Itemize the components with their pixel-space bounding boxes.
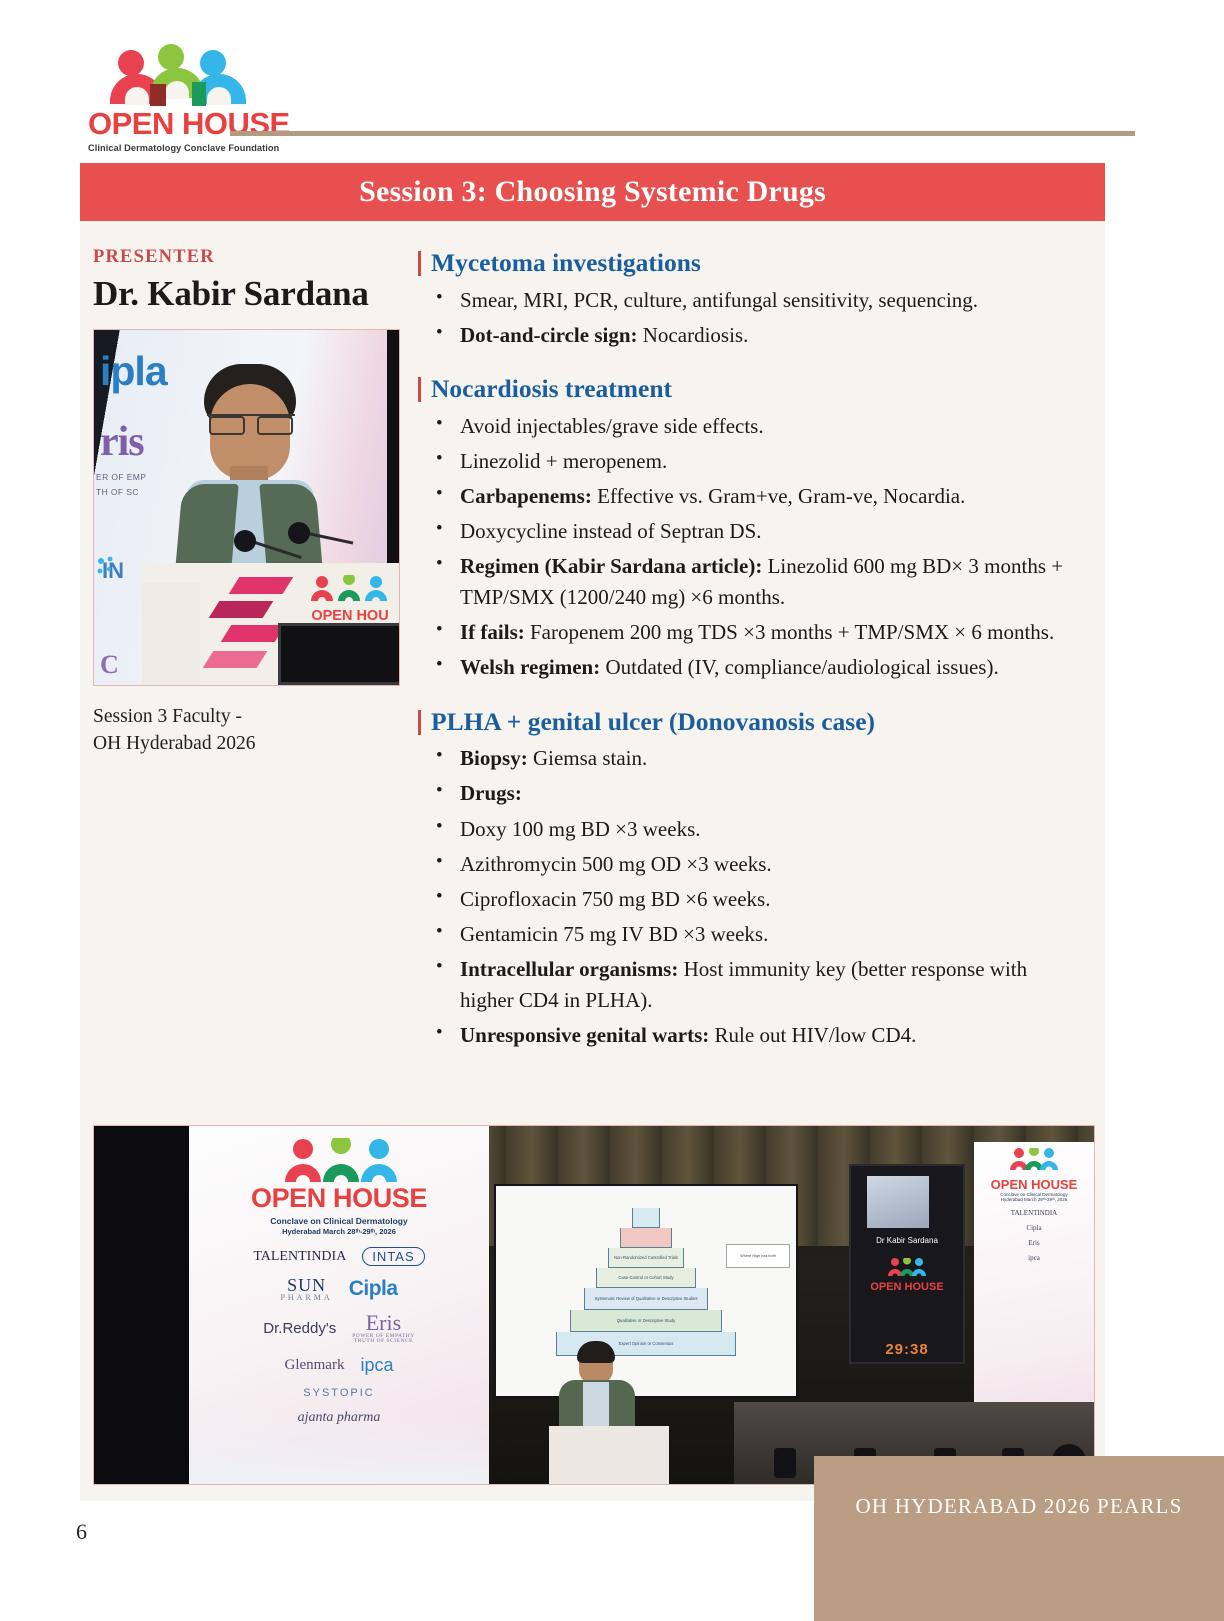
speaker-thumbnail [867,1176,929,1228]
bullet-lead: Intracellular organisms: [460,957,678,981]
bullet-text: Doxy 100 mg BD ×3 weeks. [460,817,701,841]
presenter-photo-caption: Session 3 Faculty - OH Hyderabad 2026 [93,704,410,758]
bullet-text: Linezolid + meropenem. [460,449,667,473]
bullet-lead: If fails: [460,620,525,644]
open-house-logo: OPEN HOUSE Clinical Dermatology Conclave… [88,44,328,153]
footer-label: OH HYDERABAD 2026 PEARLS [814,1494,1224,1519]
stage-led-screen: Dr Kabir Sardana OPEN HOUSE 29:38 [849,1164,965,1364]
bullet-lead: Dot-and-circle sign: [460,323,638,347]
standee-sponsor: Cipla [974,1224,1094,1232]
bullet-text: Smear, MRI, PCR, culture, antifungal sen… [460,288,978,312]
pyramid-row-label: Non-Randomized Controlled Trials [614,1255,678,1260]
sponsor-talentindia: TALENTINDIA [253,1249,346,1265]
list-item: Smear, MRI, PCR, culture, antifungal sen… [418,285,1068,316]
standee-sponsor: Eris [974,1239,1094,1247]
glasses-icon [207,414,295,432]
list-item: Welsh regimen: Outdated (IV, compliance/… [418,652,1068,683]
bullet-lead: Drugs: [460,781,522,805]
section-mycetoma-investigations: Mycetoma investigations Smear, MRI, PCR,… [418,247,1068,351]
countdown-timer: 29:38 [851,1341,963,1358]
sponsor-eris-tagline: POWER OF EMPATHYTRUTH OF SCIENCE [352,1334,415,1344]
header-rule [230,131,1135,136]
sponsor-row: Glenmark ipca [189,1355,489,1376]
section-heading: Nocardiosis treatment [418,373,1068,405]
photo-caption-line-2: OH Hyderabad 2026 [93,731,410,758]
list-item: Carbapenems: Effective vs. Gram+ve, Gram… [418,481,1068,512]
backdrop-partial-letter: C [100,650,119,680]
list-item: Regimen (Kabir Sardana article): Linezol… [418,551,1068,613]
two-column-layout: PRESENTER Dr. Kabir Sardana ipla ris ER … [80,221,1105,1055]
list-item: Intracellular organisms: Host immunity k… [418,954,1068,1016]
presenter-label: PRESENTER [93,247,410,268]
bullet-text: Gentamicin 75 mg IV BD ×3 weeks. [460,922,768,946]
bullet-text: Azithromycin 500 mg OD ×3 weeks. [460,852,772,876]
presenter-figure [152,362,342,582]
bullet-lead: Carbapenems: [460,484,592,508]
sponsor-glenmark: Glenmark [284,1358,344,1373]
podium-monitor [278,623,400,685]
photo-caption-line-1: Session 3 Faculty - [93,704,410,731]
bullet-text: Rule out HIV/low CD4. [709,1023,916,1047]
standee-sponsor: ipca [974,1254,1094,1262]
list-item: Unresponsive genital warts: Rule out HIV… [418,1020,1068,1051]
sponsor-intas: INTAS [362,1247,424,1266]
led-screen-logo: OPEN HOUSE [851,1258,963,1293]
section-bullet-list: Biopsy: Giemsa stain. Drugs: Doxy 100 mg… [418,743,1068,1051]
bullet-text: Faropenem 200 mg TDS ×3 months + TMP/SMX… [525,620,1054,644]
presenter-column: PRESENTER Dr. Kabir Sardana ipla ris ER … [80,221,410,758]
sponsor-sun-pharma-sub: PHARMA [280,1294,332,1302]
bullet-text: Effective vs. Gram+ve, Gram-ve, Nocardia… [592,484,966,508]
backdrop-eris-tagline: ER OF EMPTH OF SC [96,470,146,499]
presenter-name: Dr. Kabir Sardana [93,274,410,313]
bullet-lead: Unresponsive genital warts: [460,1023,709,1047]
footer-band: OH HYDERABAD 2026 PEARLS [814,1456,1224,1621]
list-item: Azithromycin 500 mg OD ×3 weeks. [418,849,1068,880]
bullet-text: Avoid injectables/grave side effects. [460,414,764,438]
list-item: Drugs: [418,778,1068,809]
pyramid-row-label: Case-Control or Cohort Study [618,1275,673,1280]
backdrop-intas-dots-icon [96,556,120,580]
section-heading: Mycetoma investigations [418,247,1068,279]
list-item: Dot-and-circle sign: Nocardiosis. [418,320,1068,351]
stage-presenter-figure [549,1344,669,1484]
standee-wordmark: OPEN HOUSE [974,1177,1094,1192]
bullet-text: Doxycycline instead of Septran DS. [460,519,762,543]
led-screen-wordmark: OPEN HOUSE [851,1281,963,1293]
session-banner: Session 3: Choosing Systemic Drugs [80,163,1105,221]
pyramid-row-label: Systematic Review of Qualitative or Desc… [595,1296,698,1301]
sponsor-cipla: Cipla [349,1277,398,1301]
content-panel: Session 3: Choosing Systemic Drugs PRESE… [80,163,1105,1501]
sponsor-row: Dr.Reddy's ErisPOWER OF EMPATHYTRUTH OF … [189,1313,489,1344]
sponsor-row: TALENTINDIA INTAS [189,1247,489,1266]
evidence-pyramid-diagram: Non-Randomized Controlled Trials Case-Co… [551,1208,741,1358]
stage-banner-sub2: Hyderabad March 28ᵗʰ-29ᵗʰ, 2026 [189,1227,489,1236]
banner-skyline-graphic [189,1412,489,1484]
pyramid-row-label: Qualitative or Descriptive Study [617,1318,675,1323]
sponsor-eris: ErisPOWER OF EMPATHYTRUTH OF SCIENCE [352,1313,415,1344]
standee-sub2: Hyderabad March 28ᵗʰ-29ᵗʰ, 2026 [974,1197,1094,1202]
podium: OPEN HOU Conclave on Clinical Dermatolog… [142,563,400,685]
stage-banner-sub1: Conclave on Clinical Dermatology [189,1216,489,1226]
stage-banner-wordmark: OPEN HOUSE [189,1183,489,1214]
slide-callout: Where High has both [726,1244,790,1268]
list-item: If fails: Faropenem 200 mg TDS ×3 months… [418,617,1068,648]
standee-sponsor: TALENTINDIA [974,1209,1094,1217]
section-nocardiosis-treatment: Nocardiosis treatment Avoid injectables/… [418,373,1068,684]
section-heading: PLHA + genital ulcer (Donovanosis case) [418,706,1068,738]
bullet-text: Nocardiosis. [638,323,749,347]
sponsor-systopic: SYSTOPIC [303,1387,374,1399]
list-item: Biopsy: Giemsa stain. [418,743,1068,774]
list-item: Ciprofloxacin 750 mg BD ×6 weeks. [418,884,1068,915]
session-title: Session 3: Choosing Systemic Drugs [359,175,826,209]
podium-logo-word: OPEN HOU [306,608,394,624]
notes-column: Mycetoma investigations Smear, MRI, PCR,… [410,221,1090,1055]
list-item: Linezolid + meropenem. [418,446,1068,477]
section-bullet-list: Avoid injectables/grave side effects. Li… [418,411,1068,684]
section-bullet-list: Smear, MRI, PCR, culture, antifungal sen… [418,285,1068,351]
bullet-lead: Biopsy: [460,746,528,770]
open-house-logo-figures [110,44,270,106]
bullet-lead: Welsh regimen: [460,655,600,679]
sponsor-ipca: ipca [360,1355,393,1376]
bullet-lead: Regimen (Kabir Sardana article): [460,554,762,578]
stage-photo: OPEN HOUSE Conclave on Clinical Dermatol… [93,1125,1095,1485]
stage-banner-logo-icon [273,1138,405,1182]
stage-light-icon [774,1448,796,1478]
list-item: Gentamicin 75 mg IV BD ×3 weeks. [418,919,1068,950]
list-item: Doxy 100 mg BD ×3 weeks. [418,814,1068,845]
logo-tagline: Clinical Dermatology Conclave Foundation [88,143,328,153]
sponsor-row: SUNPHARMA Cipla [189,1277,489,1302]
list-item: Avoid injectables/grave side effects. [418,411,1068,442]
sponsor-sun-pharma: SUNPHARMA [280,1277,332,1302]
speaker-name-overlay: Dr Kabir Sardana [851,1236,963,1245]
sponsor-dr-reddys: Dr.Reddy's [263,1320,336,1337]
bullet-text: Outdated (IV, compliance/audiological is… [600,655,999,679]
sponsor-row: SYSTOPIC [189,1387,489,1399]
list-item: Doxycycline instead of Septran DS. [418,516,1068,547]
stage-sponsor-banner: OPEN HOUSE Conclave on Clinical Dermatol… [189,1126,489,1484]
section-plha-genital-ulcer: PLHA + genital ulcer (Donovanosis case) … [418,706,1068,1052]
stage-side-standee: OPEN HOUSE Conclave on Clinical Dermatol… [974,1142,1094,1442]
bullet-text: Ciprofloxacin 750 mg BD ×6 weeks. [460,887,770,911]
page-number: 6 [76,1519,87,1545]
bullet-text: Giemsa stain. [528,746,648,770]
backdrop-eris-logo: ris [100,418,144,466]
presenter-photo: ipla ris ER OF EMPTH OF SC IN C [93,329,400,686]
